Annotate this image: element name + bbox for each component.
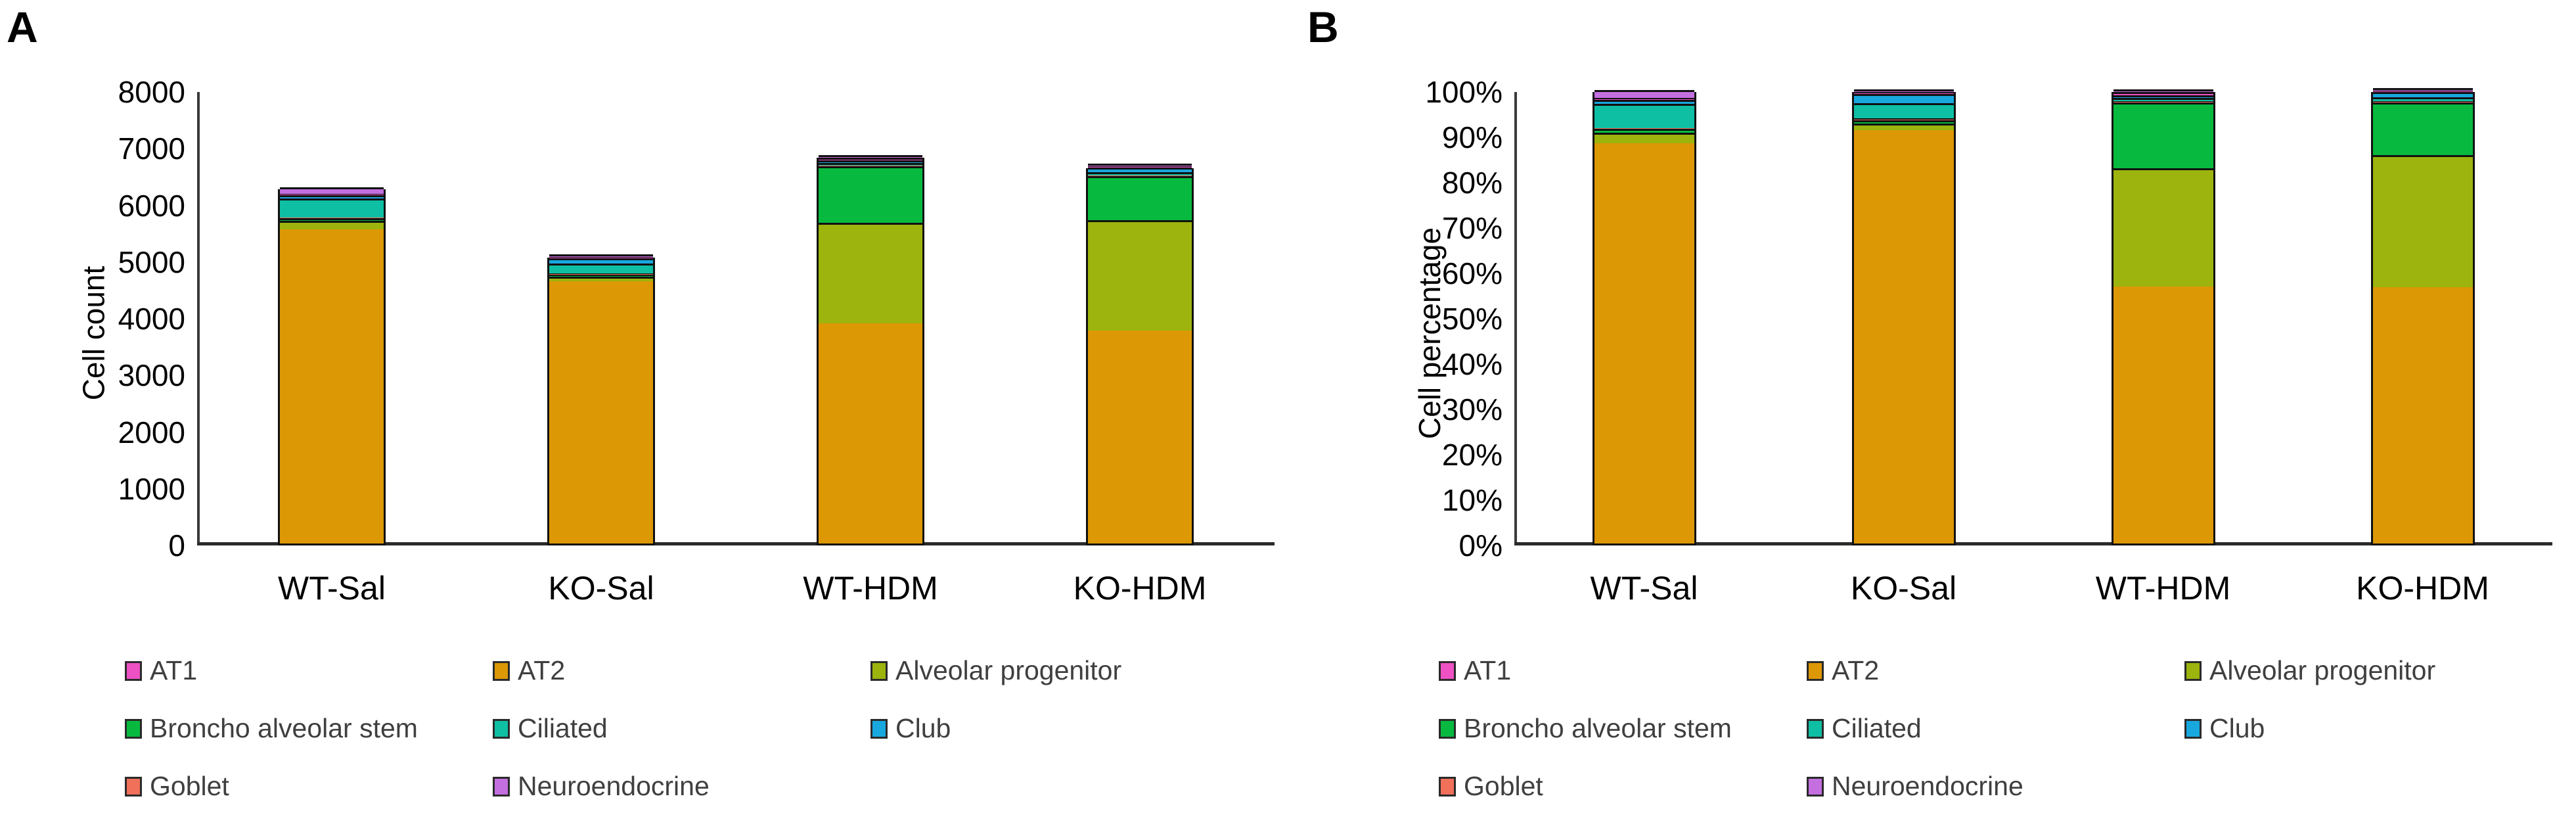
bar-segment-club[interactable] [1594, 100, 1694, 104]
x-axis-label-wt-hdm: WT-HDM [2096, 569, 2231, 607]
bar-segment-broncho-alveolar-stem[interactable] [280, 218, 384, 221]
panel-b-y-tick-label: 70% [1442, 210, 1503, 246]
legend-swatch-at1 [1439, 661, 1456, 681]
bar-segment-ciliated[interactable] [2373, 97, 2473, 101]
bar-segment-club[interactable] [1088, 168, 1192, 172]
legend-swatch-neuroendocrine [1807, 777, 1824, 797]
bar-segment-ciliated[interactable] [819, 163, 922, 166]
legend-item-label: Alveolar progenitor [2209, 657, 2435, 684]
x-axis-label-ko-hdm: KO-HDM [2356, 569, 2489, 607]
legend-item-label: Neuroendocrine [1832, 773, 2023, 800]
bar-segment-ciliated[interactable] [1088, 172, 1192, 175]
bar-segment-neuroendocrine[interactable] [819, 155, 922, 158]
stacked-bar-wt-hdm[interactable] [817, 158, 924, 545]
panel-a-y-tick-label: 4000 [118, 301, 185, 336]
bar-segment-club[interactable] [2113, 95, 2213, 99]
bar-segment-broncho-alveolar-stem[interactable] [1854, 120, 1954, 124]
legend-swatch-club [870, 719, 888, 739]
bar-segment-broncho-alveolar-stem[interactable] [549, 274, 653, 277]
x-axis-label-ko-hdm: KO-HDM [1073, 569, 1207, 607]
stacked-bar-wt-sal[interactable] [278, 189, 386, 545]
bar-segment-club[interactable] [819, 160, 922, 163]
bar-segment-neuroendocrine[interactable] [549, 254, 653, 257]
panel-a-y-tick-label: 1000 [118, 471, 185, 507]
panel-b-plot-area: 100%90%80%70%60%50%40%30%20%10%0% [1514, 92, 2552, 545]
legend-item-label: AT1 [1464, 657, 1511, 684]
panel-b-y-tick-label: 60% [1442, 256, 1503, 291]
bar-segment-club[interactable] [280, 195, 384, 198]
legend-item-broncho-alveolar-stem[interactable]: Broncho alveolar stem [125, 715, 418, 742]
bar-segment-broncho-alveolar-stem[interactable] [2113, 103, 2213, 168]
figure-root: A Cell count 800070006000500040003000200… [0, 0, 2576, 832]
legend-item-club[interactable]: Club [2184, 715, 2265, 742]
legend-item-label: Goblet [150, 773, 229, 800]
panel-b-y-tick-label: 30% [1442, 392, 1503, 427]
panel-b-y-tick-label: 0% [1459, 528, 1503, 563]
panel-a-y-tick-label: 5000 [118, 244, 185, 280]
bar-segment-ciliated[interactable] [1854, 103, 1954, 118]
legend-item-label: Goblet [1464, 773, 1543, 800]
x-axis-label-ko-sal: KO-Sal [548, 569, 654, 607]
panel-a-y-tick-label: 2000 [118, 415, 185, 450]
bar-segment-at2[interactable] [2113, 287, 2213, 543]
bar-segment-alveolar-progenitor[interactable] [1854, 124, 1954, 130]
stacked-bar-ko-sal[interactable] [547, 258, 655, 545]
bar-segment-neuroendocrine[interactable] [1088, 164, 1192, 166]
bar-segment-broncho-alveolar-stem[interactable] [1088, 176, 1192, 220]
legend-swatch-broncho-alveolar-stem [1439, 719, 1456, 739]
legend-swatch-club [2184, 719, 2202, 739]
panel-a-y-tick-label: 6000 [118, 188, 185, 223]
panel-b: B Cell percentage 100%90%80%70%60%50%40%… [1288, 0, 2576, 832]
legend-item-neuroendocrine[interactable]: Neuroendocrine [1807, 773, 2023, 800]
legend-swatch-alveolar-progenitor [2184, 661, 2202, 681]
panel-b-legend: AT1AT2Alveolar progenitorBroncho alveola… [1439, 657, 2556, 815]
legend-item-label: Broncho alveolar stem [1464, 715, 1732, 742]
panel-b-y-tick-label: 10% [1442, 482, 1503, 518]
legend-item-at1[interactable]: AT1 [1439, 657, 1511, 684]
panel-a-y-tick-label: 7000 [118, 131, 185, 166]
stacked-bar-ko-hdm[interactable] [1086, 168, 1194, 545]
panel-a-y-tick-label: 0 [168, 528, 185, 563]
bar-segment-alveolar-progenitor[interactable] [819, 223, 922, 324]
bar-segment-neuroendocrine[interactable] [2113, 89, 2213, 92]
legend-item-at1[interactable]: AT1 [125, 657, 197, 684]
legend-item-label: Club [2209, 715, 2265, 742]
panel-a: A Cell count 800070006000500040003000200… [0, 0, 1288, 832]
panel-b-y-tick-label: 100% [1425, 74, 1503, 110]
bar-segment-neuroendocrine[interactable] [280, 187, 384, 193]
x-axis-label-wt-sal: WT-Sal [1591, 569, 1698, 607]
bar-segment-ciliated[interactable] [2113, 98, 2213, 101]
bar-segment-alveolar-progenitor[interactable] [2373, 155, 2473, 287]
bar-segment-at2[interactable] [280, 229, 384, 543]
bar-segment-broncho-alveolar-stem[interactable] [819, 166, 922, 222]
bar-segment-at1[interactable] [2113, 92, 2213, 95]
legend-item-label: Ciliated [1832, 715, 1922, 742]
bar-segment-neuroendocrine[interactable] [1854, 89, 1954, 92]
legend-item-neuroendocrine[interactable]: Neuroendocrine [493, 773, 710, 800]
legend-swatch-alveolar-progenitor [870, 661, 888, 681]
legend-item-label: Neuroendocrine [518, 773, 710, 800]
bar-segment-ciliated[interactable] [1594, 104, 1694, 128]
panel-a-plot-area: 800070006000500040003000200010000 [197, 92, 1275, 545]
legend-item-label: Broncho alveolar stem [150, 715, 418, 742]
panel-a-legend: AT1AT2Alveolar progenitorBroncho alveola… [125, 657, 1242, 815]
legend-swatch-goblet [125, 777, 142, 797]
legend-swatch-neuroendocrine [493, 777, 510, 797]
legend-item-goblet[interactable]: Goblet [125, 773, 229, 800]
bar-segment-at2[interactable] [1088, 331, 1192, 543]
legend-item-label: Club [895, 715, 951, 742]
legend-item-at2[interactable]: AT2 [493, 657, 565, 684]
bar-segment-ciliated[interactable] [549, 264, 653, 273]
bar-segment-neuroendocrine[interactable] [1594, 90, 1694, 98]
x-axis-label-wt-sal: WT-Sal [278, 569, 386, 607]
bar-segment-at2[interactable] [1594, 143, 1694, 543]
x-axis-label-ko-sal: KO-Sal [1851, 569, 1956, 607]
legend-item-label: Ciliated [518, 715, 608, 742]
legend-item-label: AT1 [150, 657, 197, 684]
panel-b-y-tick-label: 50% [1442, 301, 1503, 336]
bar-segment-at2[interactable] [549, 281, 653, 543]
legend-swatch-goblet [1439, 777, 1456, 797]
stacked-bar-ko-hdm[interactable] [2371, 92, 2475, 545]
bar-segment-club[interactable] [2373, 92, 2473, 97]
legend-item-alveolar-progenitor[interactable]: Alveolar progenitor [2184, 657, 2435, 684]
panel-a-y-axis-title: Cell count [76, 266, 111, 401]
stacked-bar-ko-sal[interactable] [1852, 92, 1956, 545]
legend-swatch-ciliated [1807, 719, 1824, 739]
panel-b-y-tick-label: 20% [1442, 437, 1503, 473]
legend-swatch-at2 [1807, 661, 1824, 681]
legend-item-label: AT2 [518, 657, 565, 684]
bar-segment-club[interactable] [1854, 94, 1954, 103]
legend-item-alveolar-progenitor[interactable]: Alveolar progenitor [870, 657, 1121, 684]
panel-b-letter: B [1307, 5, 1339, 49]
bar-segment-alveolar-progenitor[interactable] [1594, 133, 1694, 144]
x-axis-label-wt-hdm: WT-HDM [803, 569, 938, 607]
legend-swatch-at1 [125, 661, 142, 681]
bar-segment-at1[interactable] [819, 158, 922, 160]
panel-b-y-tick-label: 40% [1442, 346, 1503, 382]
panel-a-letter: A [7, 5, 38, 49]
bar-segment-at2[interactable] [1854, 130, 1954, 543]
legend-item-goblet[interactable]: Goblet [1439, 773, 1543, 800]
legend-item-club[interactable]: Club [870, 715, 951, 742]
bar-segment-alveolar-progenitor[interactable] [1088, 220, 1192, 330]
bar-segment-alveolar-progenitor[interactable] [549, 277, 653, 281]
legend-item-ciliated[interactable]: Ciliated [1807, 715, 1922, 742]
legend-swatch-broncho-alveolar-stem [125, 719, 142, 739]
panel-a-y-tick-label: 8000 [118, 74, 185, 110]
legend-item-broncho-alveolar-stem[interactable]: Broncho alveolar stem [1439, 715, 1732, 742]
bar-segment-alveolar-progenitor[interactable] [280, 221, 384, 229]
panel-a-y-tick-label: 3000 [118, 358, 185, 393]
panel-b-y-tick-label: 90% [1442, 120, 1503, 155]
bar-segment-alveolar-progenitor[interactable] [2113, 168, 2213, 287]
panel-b-y-axis-line [1514, 92, 1517, 545]
legend-swatch-ciliated [493, 719, 510, 739]
stacked-bar-wt-sal[interactable] [1593, 92, 1696, 545]
bar-segment-neuroendocrine[interactable] [2373, 88, 2473, 91]
bar-segment-broncho-alveolar-stem[interactable] [2373, 103, 2473, 156]
bar-segment-ciliated[interactable] [280, 198, 384, 217]
legend-item-label: Alveolar progenitor [895, 657, 1121, 684]
bar-segment-club[interactable] [549, 258, 653, 264]
legend-item-at2[interactable]: AT2 [1807, 657, 1879, 684]
bar-segment-at2[interactable] [2373, 287, 2473, 543]
panel-b-y-tick-label: 80% [1442, 165, 1503, 200]
legend-swatch-at2 [493, 661, 510, 681]
legend-item-label: AT2 [1832, 657, 1879, 684]
bar-segment-broncho-alveolar-stem[interactable] [1594, 129, 1694, 133]
legend-item-ciliated[interactable]: Ciliated [493, 715, 608, 742]
bar-segment-at2[interactable] [819, 323, 922, 543]
panel-a-y-axis-line [197, 92, 200, 545]
stacked-bar-wt-hdm[interactable] [2112, 92, 2215, 545]
